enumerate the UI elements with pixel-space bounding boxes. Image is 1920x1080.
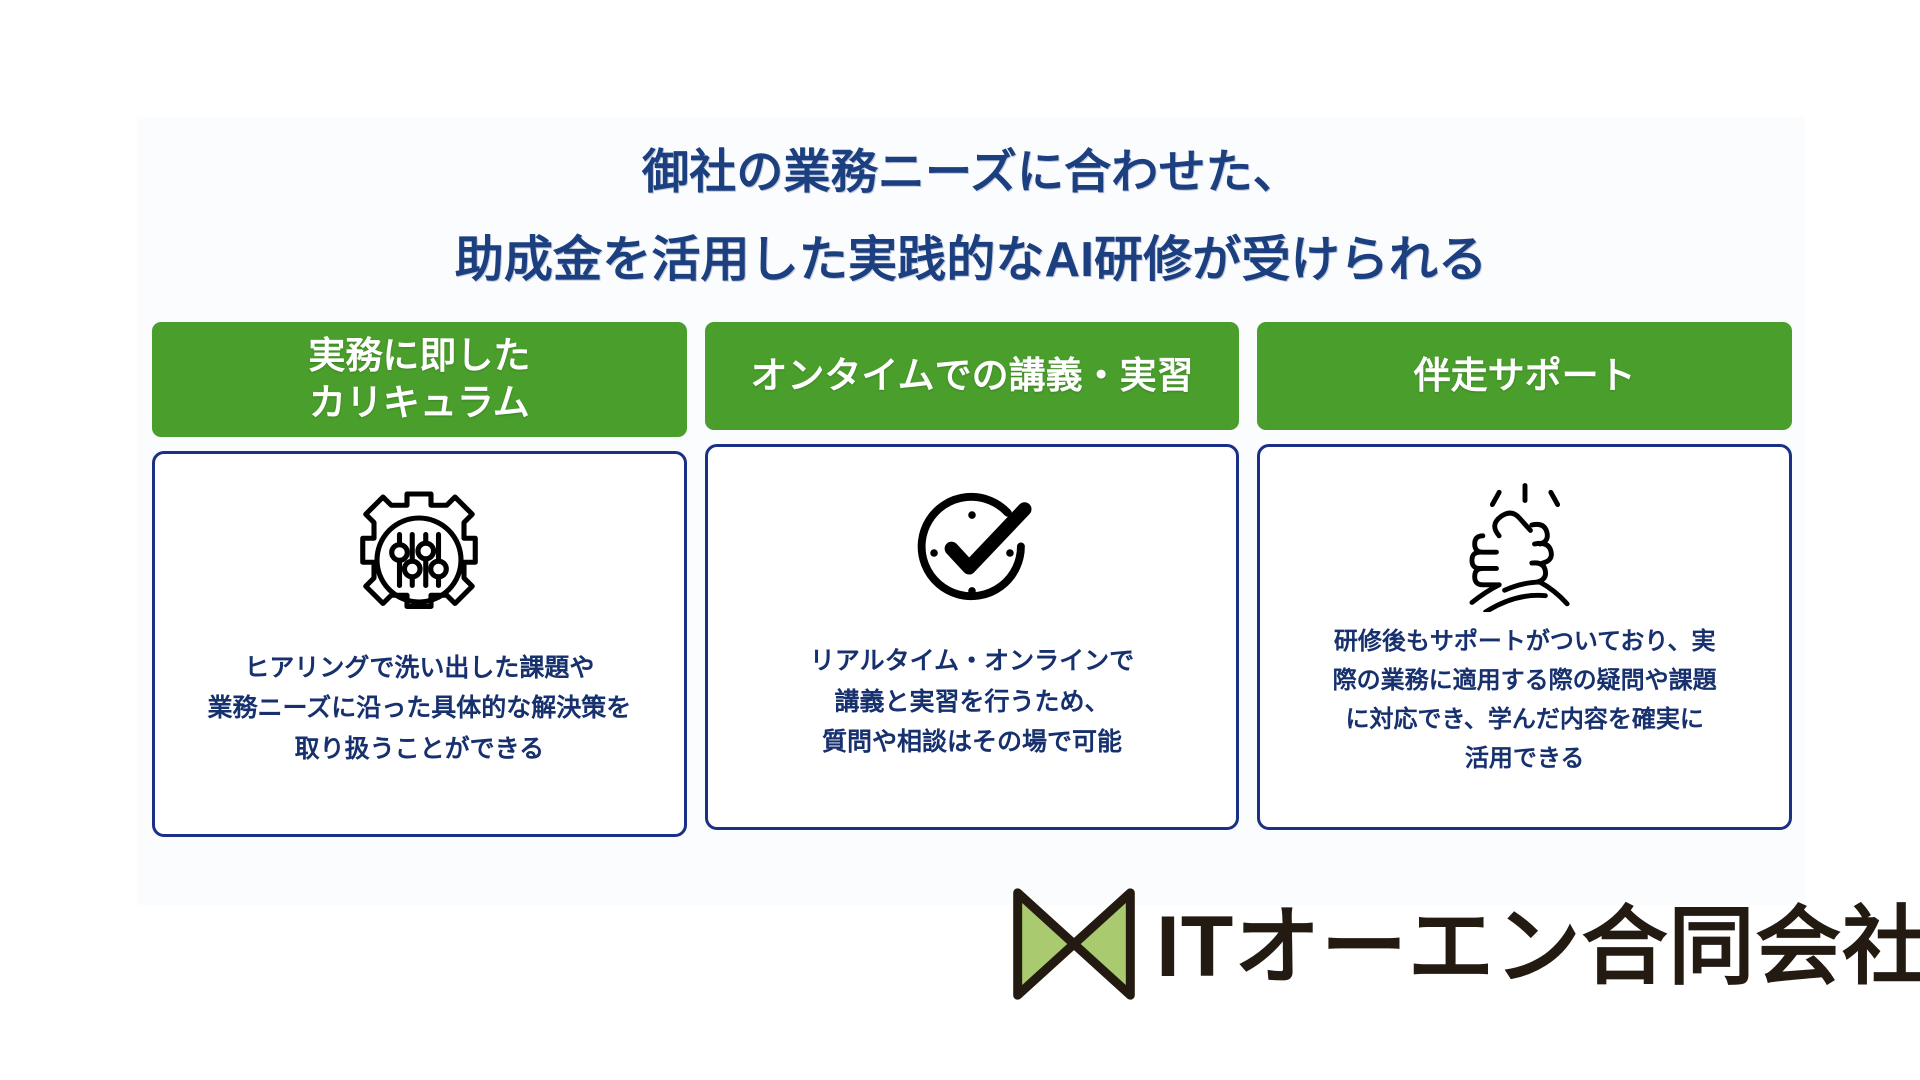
feature-card-2-body: リアルタイム・オンラインで 講義と実習を行うため、 質問や相談はその場で可能 [810,641,1134,763]
feature-column-2: オンタイムでの講義・実習 [705,322,1240,837]
company-logo: ITオーエン合同会社 [1010,880,1920,1013]
feature-header-2-label: オンタイムでの講義・実習 [750,352,1193,399]
feature-card-3: 研修後もサポートがついており、実 際の業務に適用する際の疑問や課題 に対応でき、… [1257,444,1792,830]
headline-line-2: 助成金を活用した実践的なAI研修が受けられる [137,216,1805,304]
feature-column-3: 伴走サポート [1257,322,1792,837]
gear-sliders-icon [344,476,494,644]
feature-header-1: 実務に即した カリキュラム [152,322,687,437]
feature-card-2: リアルタイム・オンラインで 講義と実習を行うため、 質問や相談はその場で可能 [705,444,1240,830]
feature-card-1-body: ヒアリングで洗い出した課題や 業務ニーズに沿った具体的な解決策を 取り扱うことが… [207,648,631,770]
clock-check-icon [899,469,1045,637]
page-title: 御社の業務ニーズに合わせた、 助成金を活用した実践的なAI研修が受けられる [137,128,1805,304]
handshake-icon [1450,469,1600,619]
feature-column-1: 実務に即した カリキュラム [152,322,687,837]
feature-columns: 実務に即した カリキュラム [152,322,1792,837]
feature-card-1: ヒアリングで洗い出した課題や 業務ニーズに沿った具体的な解決策を 取り扱うことが… [152,451,687,837]
bowtie-logo-icon [1010,880,1138,1013]
feature-header-2: オンタイムでの講義・実習 [705,322,1240,430]
feature-header-3: 伴走サポート [1257,322,1792,430]
feature-header-3-label: 伴走サポート [1414,352,1636,399]
headline-line-1: 御社の業務ニーズに合わせた、 [137,128,1805,216]
feature-card-3-body: 研修後もサポートがついており、実 際の業務に適用する際の疑問や課題 に対応でき、… [1333,623,1717,779]
feature-header-1-label: 実務に即した カリキュラム [308,332,530,427]
company-logo-text: ITオーエン合同会社 [1156,904,1920,990]
